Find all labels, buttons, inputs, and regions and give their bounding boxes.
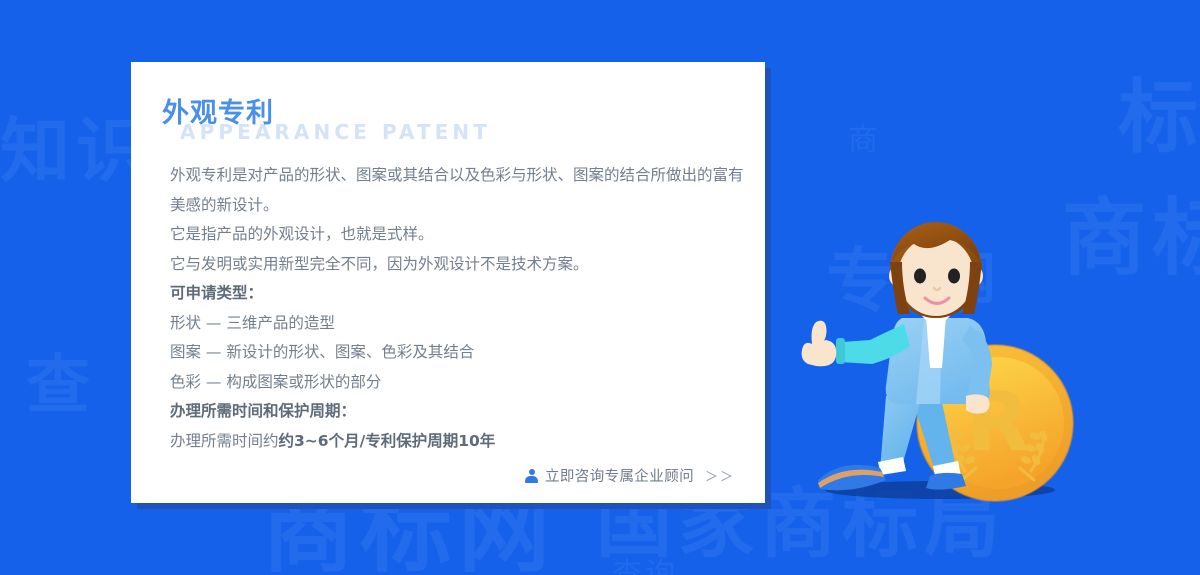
type-shape: 形状 — 三维产品的造型 — [170, 309, 745, 339]
page-root: 商标网 国家商标局 查询 专利 网 商标 查 标网 商 知识产权 APPEARA… — [0, 0, 1200, 575]
watermark-glyph: 查 — [26, 354, 96, 418]
card-body: 外观专利是对产品的形状、图案或其结合以及色彩与形状、图案的结合所做出的富有美感的… — [170, 161, 745, 456]
watermark-glyph: 商标 — [1062, 196, 1200, 280]
info-card: APPEARANCE PATENT 外观专利 外观专利是对产品的形状、图案或其结… — [131, 62, 765, 503]
consult-advisor-link[interactable]: 立即咨询专属企业顾问 ＞＞ — [525, 465, 735, 486]
user-icon — [525, 469, 538, 483]
paragraph-definition-3: 它与发明或实用新型完全不同，因为外观设计不是技术方案。 — [170, 250, 745, 280]
heading-duration: 办理所需时间和保护周期： — [170, 397, 745, 427]
type-color: 色彩 — 构成图案或形状的部分 — [170, 368, 745, 398]
page-title: 外观专利 — [162, 100, 274, 127]
watermark-glyph: 查询 — [612, 560, 678, 575]
duration-emphasis: 约3~6个月/专利保护周期10年 — [279, 432, 496, 450]
watermark-glyph: 商 — [848, 126, 881, 156]
duration-prefix: 办理所需时间约 — [170, 432, 279, 450]
businesswoman-with-coin-illustration: R — [790, 218, 1080, 508]
watermark-glyph: 标网 — [1118, 78, 1200, 158]
duration-line: 办理所需时间约约3~6个月/专利保护周期10年 — [170, 427, 745, 457]
chevron-right-icon: ＞＞ — [705, 466, 735, 485]
type-pattern: 图案 — 新设计的形状、图案、色彩及其结合 — [170, 338, 745, 368]
heading-types: 可申请类型： — [170, 279, 745, 309]
paragraph-definition-2: 它是指产品的外观设计，也就是式样。 — [170, 220, 745, 250]
consult-advisor-label: 立即咨询专属企业顾问 — [545, 465, 694, 486]
paragraph-definition: 外观专利是对产品的形状、图案或其结合以及色彩与形状、图案的结合所做出的富有美感的… — [170, 161, 745, 220]
